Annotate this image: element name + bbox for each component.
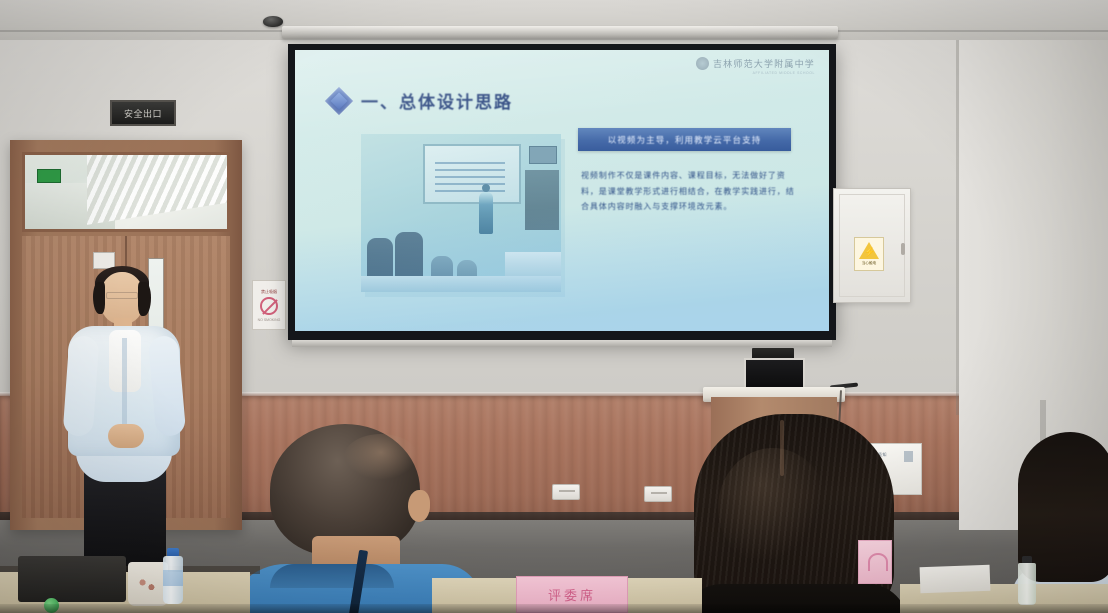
panel-handle[interactable] <box>901 243 905 255</box>
slide-title: 一、总体设计思路 <box>361 88 513 113</box>
screen-ledge <box>292 340 832 347</box>
water-bottle <box>162 548 184 604</box>
photo-whiteboard-text <box>435 162 505 196</box>
presenter-hands <box>108 424 144 448</box>
judge-seat-label: 评委席 <box>548 585 596 604</box>
presenter-hair-left <box>93 282 105 314</box>
audience-left-collar <box>270 564 394 588</box>
photo-side-screen <box>529 146 557 164</box>
bag-on-table <box>18 556 126 602</box>
photo-whiteboard <box>423 144 521 204</box>
dome-camera-icon <box>263 16 283 27</box>
podium-monitor[interactable] <box>744 358 805 388</box>
slide-logo-sub: AFFILIATED MIDDLE SCHOOL <box>753 71 815 75</box>
slide-logo-text: 吉林师范大学附属中学 <box>713 57 815 70</box>
no-smoking-label: 禁止吸烟 <box>261 289 277 295</box>
exit-sign-label: 安全出口 <box>124 107 162 120</box>
audience-center-hair-sheen <box>718 448 828 568</box>
slide-photo <box>361 134 561 292</box>
bottom-edge-shadow <box>0 604 1108 613</box>
presenter <box>62 272 190 572</box>
photo-desk-back <box>505 252 561 278</box>
electrical-panel[interactable]: 当心触电 <box>833 188 911 303</box>
slide-logo: 吉林师范大学附属中学 AFFILIATED MIDDLE SCHOOL <box>696 57 815 70</box>
warning-triangle-icon <box>859 242 879 259</box>
bottle-body <box>1018 563 1036 605</box>
door-transom-window <box>22 152 230 232</box>
screen-surface: 吉林师范大学附属中学 AFFILIATED MIDDLE SCHOOL 一、总体… <box>295 50 829 331</box>
audience-left-scalp <box>344 434 418 480</box>
lecture-hall-scene: 安全出口 禁止吸烟 NO SMOKING 吉林师范大学附属中学 AFFILIAT… <box>0 0 1108 613</box>
warning-label: 当心触电 <box>862 261 876 266</box>
paper-on-table <box>920 565 991 593</box>
wall-outlet <box>644 486 672 502</box>
bottle-label <box>163 570 183 586</box>
projection-screen-roller <box>282 26 838 39</box>
presenter-hair-right <box>138 282 151 316</box>
electric-hazard-sign: 当心触电 <box>854 237 884 271</box>
audience-left-ear <box>408 490 430 522</box>
diamond-bullet-icon <box>325 86 353 114</box>
photo-desk-front <box>361 276 561 292</box>
presenter-glasses <box>106 292 138 299</box>
presentation-slide: 吉林师范大学附属中学 AFFILIATED MIDDLE SCHOOL 一、总体… <box>295 50 829 331</box>
slide-callout-text: 以视频为主导，利用教学云平台支持 <box>608 134 762 146</box>
photo-teacher-figure <box>479 192 493 234</box>
slide-callout-banner: 以视频为主导，利用教学云平台支持 <box>578 128 791 151</box>
university-seal-icon <box>696 57 709 70</box>
corridor-exit-sign-icon <box>37 169 61 183</box>
slide-title-row: 一、总体设计思路 <box>329 88 513 113</box>
photo-dark-panel <box>525 170 559 230</box>
exit-sign: 安全出口 <box>110 100 176 126</box>
water-bottle-right <box>1018 556 1036 604</box>
pink-name-card <box>858 540 892 584</box>
no-smoking-sub: NO SMOKING <box>258 318 281 322</box>
no-smoking-sign: 禁止吸烟 NO SMOKING <box>252 280 286 330</box>
wall-outlet <box>552 484 580 500</box>
corridor-ceiling <box>87 152 230 225</box>
no-smoking-icon <box>260 297 278 315</box>
projection-screen[interactable]: 吉林师范大学附属中学 AFFILIATED MIDDLE SCHOOL 一、总体… <box>288 44 836 340</box>
slide-body-text: 视频制作不仅是课件内容、课程目标，无法做好了资料，是课堂教学形式进行相结合，在教… <box>581 168 797 215</box>
